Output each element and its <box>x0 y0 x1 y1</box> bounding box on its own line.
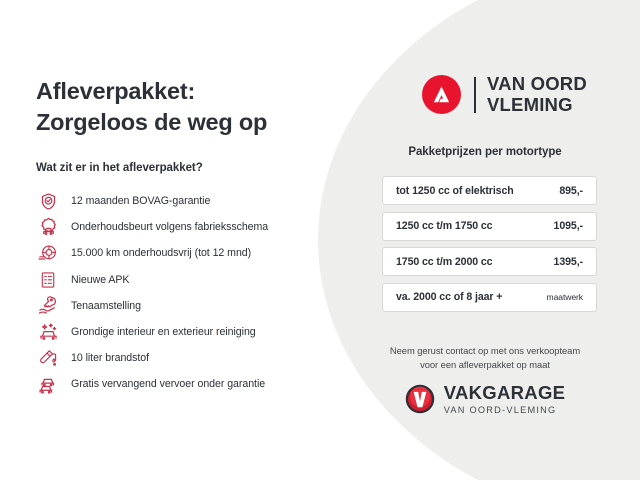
car-service-gear-icon <box>36 216 60 238</box>
list-item: 10 liter brandstof <box>36 345 331 371</box>
price-row-label: va. 2000 cc of 8 jaar + <box>396 291 502 303</box>
list-item: 12 maanden BOVAG-garantie <box>36 188 331 214</box>
van-oord-a-badge-icon <box>422 75 461 114</box>
checklist-icon <box>36 269 60 291</box>
fuel-nozzle-icon <box>36 347 60 369</box>
vakgarage-name: VAKGARAGE <box>444 384 566 403</box>
list-item: Tenaamstelling <box>36 293 331 319</box>
price-row-label: 1250 cc t/m 1750 cc <box>396 220 492 232</box>
page-title: Afleverpakket: Zorgeloos de weg op <box>36 76 326 139</box>
list-item-label: Nieuwe APK <box>71 274 129 286</box>
brand-name-line-1: VAN OORD <box>487 74 587 95</box>
list-item-label: Grondige interieur en exterieur reinigin… <box>71 326 256 338</box>
list-item: Onderhoudsbeurt volgens fabrieksschema <box>36 214 331 240</box>
list-item: Gratis vervangend vervoer onder garantie <box>36 371 331 397</box>
wheel-icon <box>36 242 60 264</box>
price-row-value: 895,- <box>559 185 583 197</box>
page-title-line-2: Zorgeloos de weg op <box>36 107 326 138</box>
key-handover-icon <box>36 295 60 317</box>
vakgarage-subtitle: VAN OORD-VLEMING <box>444 406 566 415</box>
right-content-column: VAN OORD VLEMING Pakketprijzen per motor… <box>330 0 640 480</box>
table-row: 1750 cc t/m 2000 cc 1395,- <box>382 247 597 276</box>
list-item: Nieuwe APK <box>36 267 331 293</box>
price-row-value: 1395,- <box>554 256 583 268</box>
vakgarage-logo: VAKGARAGE VAN OORD-VLEMING <box>330 384 640 415</box>
car-sparkle-clean-icon <box>36 321 60 343</box>
list-item-label: 10 liter brandstof <box>71 352 149 364</box>
list-item-label: Gratis vervangend vervoer onder garantie <box>71 378 265 390</box>
price-row-value: maatwerk <box>547 292 583 302</box>
list-item-label: 15.000 km onderhoudsvrij (tot 12 mnd) <box>71 247 251 259</box>
list-item-label: 12 maanden BOVAG-garantie <box>71 195 210 207</box>
features-subheading: Wat zit er in het afleverpakket? <box>36 162 203 174</box>
price-row-label: 1750 cc t/m 2000 cc <box>396 256 492 268</box>
list-item-label: Onderhoudsbeurt volgens fabrieksschema <box>71 221 268 233</box>
list-item: 15.000 km onderhoudsvrij (tot 12 mnd) <box>36 240 331 266</box>
brand-name-line-2: VLEMING <box>487 95 587 116</box>
van-oord-vleming-logo: VAN OORD VLEMING <box>422 74 587 115</box>
shield-check-icon <box>36 190 60 212</box>
prices-heading: Pakketprijzen per motortype <box>330 146 640 158</box>
price-row-value: 1095,- <box>554 220 583 232</box>
table-row: va. 2000 cc of 8 jaar + maatwerk <box>382 283 597 312</box>
contact-note-line-2: voor een afleverpakket op maat <box>340 358 630 372</box>
table-row: tot 1250 cc of elektrisch 895,- <box>382 176 597 205</box>
price-table: tot 1250 cc of elektrisch 895,- 1250 cc … <box>382 176 597 318</box>
left-content-column: Afleverpakket: Zorgeloos de weg op Wat z… <box>0 0 330 480</box>
features-list: 12 maanden BOVAG-garantie Onderhoudsbeur… <box>36 188 331 398</box>
table-row: 1250 cc t/m 1750 cc 1095,- <box>382 212 597 241</box>
replacement-cars-icon <box>36 373 60 395</box>
vakgarage-v-badge-icon <box>405 384 435 414</box>
vakgarage-wordmark: VAKGARAGE VAN OORD-VLEMING <box>444 384 566 415</box>
list-item-label: Tenaamstelling <box>71 300 141 312</box>
contact-note: Neem gerust contact op met ons verkoopte… <box>340 344 630 372</box>
logo-divider <box>474 77 476 113</box>
brand-wordmark: VAN OORD VLEMING <box>487 74 587 115</box>
price-row-label: tot 1250 cc of elektrisch <box>396 185 514 197</box>
contact-note-line-1: Neem gerust contact op met ons verkoopte… <box>340 344 630 358</box>
list-item: Grondige interieur en exterieur reinigin… <box>36 319 331 345</box>
page-title-line-1: Afleverpakket: <box>36 78 195 104</box>
delivery-package-poster: Afleverpakket: Zorgeloos de weg op Wat z… <box>0 0 640 480</box>
